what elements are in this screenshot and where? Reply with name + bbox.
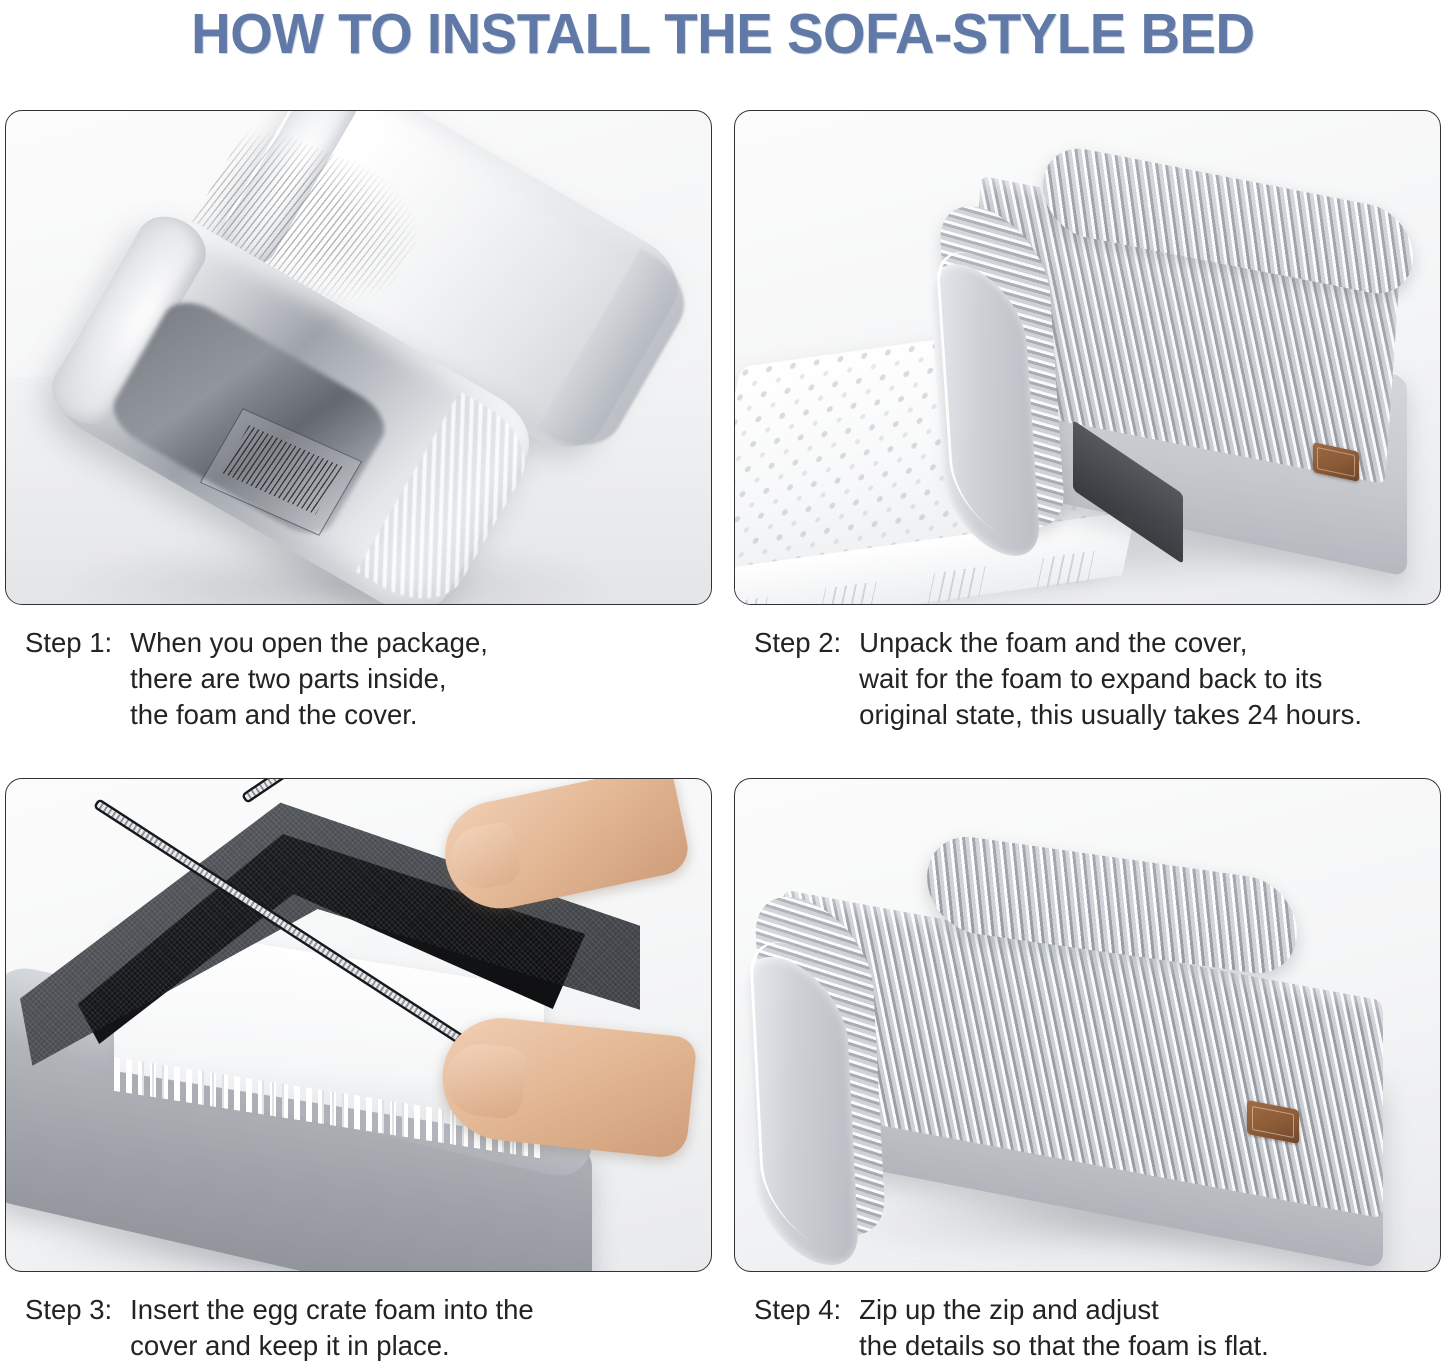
step-card-3: Step 3: Insert the egg crate foam into t… (5, 778, 712, 1364)
page-header: HOW TO INSTALL THE SOFA-STYLE BED (0, 0, 1445, 68)
step-1-caption: Step 1: When you open the package, there… (5, 625, 712, 733)
step-1-text: When you open the package, there are two… (130, 625, 712, 733)
step-card-2: Step 2: Unpack the foam and the cover, w… (734, 110, 1441, 733)
step-3-text: Insert the egg crate foam into the cover… (130, 1292, 712, 1364)
zipper-right (244, 778, 521, 800)
bed-cover-assembly (925, 157, 1425, 547)
step-2-caption: Step 2: Unpack the foam and the cover, w… (734, 625, 1441, 733)
step-4-photo (734, 778, 1441, 1272)
step-4-label: Step 4: (734, 1292, 859, 1328)
step-2-text: Unpack the foam and the cover, wait for … (859, 625, 1441, 733)
step-card-1: Step 1: When you open the package, there… (5, 110, 712, 733)
step-4-text: Zip up the zip and adjust the details so… (859, 1292, 1441, 1364)
step-1-label: Step 1: (5, 625, 130, 661)
step-1-photo (5, 110, 712, 605)
step-3-photo (5, 778, 712, 1272)
step-3-caption: Step 3: Insert the egg crate foam into t… (5, 1292, 712, 1364)
steps-grid: Step 1: When you open the package, there… (0, 70, 1445, 1370)
step-4-caption: Step 4: Zip up the zip and adjust the de… (734, 1292, 1441, 1364)
step-card-4: Step 4: Zip up the zip and adjust the de… (734, 778, 1441, 1364)
hand-holding-flap (435, 778, 692, 919)
step-2-label: Step 2: (734, 625, 859, 661)
step-3-label: Step 3: (5, 1292, 130, 1328)
step-2-photo (734, 110, 1441, 605)
page-title: HOW TO INSTALL THE SOFA-STYLE BED (191, 1, 1254, 67)
finished-bed (747, 827, 1415, 1227)
